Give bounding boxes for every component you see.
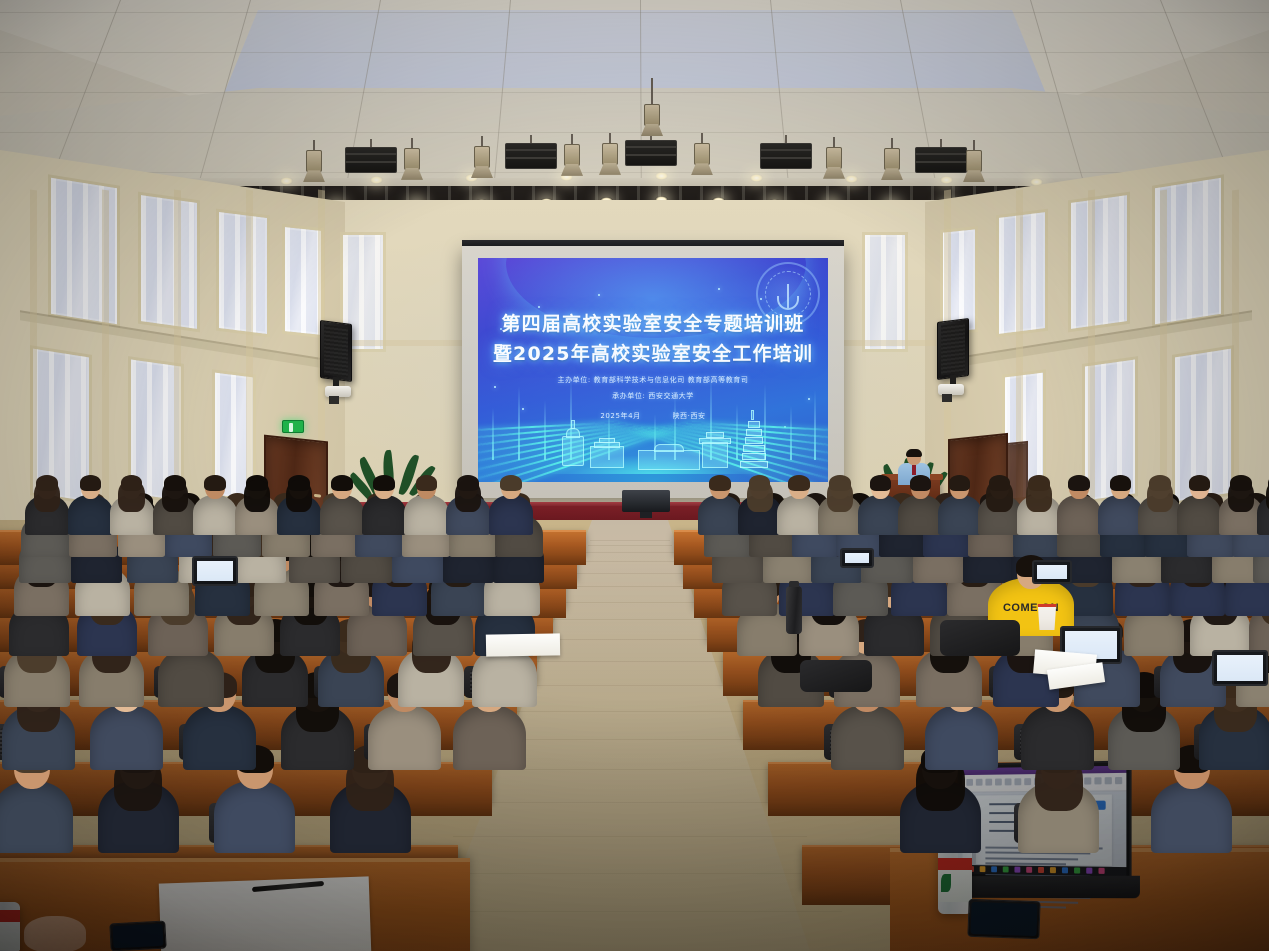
stage-spotlight — [690, 133, 714, 177]
skyline-bell-tower-spire — [571, 420, 575, 429]
ceiling-grid-line — [0, 12, 1269, 13]
audience-hair — [1189, 475, 1211, 490]
audience-member — [320, 476, 364, 539]
laptop-display — [1217, 655, 1263, 681]
stage-spotlight — [560, 134, 584, 178]
taskbar-icon[interactable] — [1098, 868, 1104, 874]
wall-pilaster — [246, 189, 253, 520]
wall-pilaster — [174, 189, 181, 520]
taskbar-icon[interactable] — [980, 866, 986, 872]
backpack — [940, 620, 1020, 656]
laptop-display — [1037, 565, 1067, 579]
audience-hair — [331, 475, 353, 490]
audience-hair — [949, 475, 971, 490]
stage-spotlight — [880, 138, 904, 182]
audience-hair — [910, 475, 932, 490]
audience-long-hair — [34, 480, 60, 511]
audience-long-hair — [827, 480, 853, 511]
wall-pilaster — [1088, 189, 1095, 520]
audience-torso — [858, 495, 902, 534]
stage-floodlight — [625, 132, 677, 176]
audience-hair — [870, 475, 892, 490]
ceiling-downlight — [845, 175, 858, 183]
floor-plank — [418, 911, 841, 912]
audience-long-hair — [118, 480, 144, 511]
ribbon-icon — [1005, 778, 1012, 785]
ribbon-icon — [1115, 777, 1122, 784]
audience-hair — [204, 475, 226, 490]
audience-hair — [416, 475, 438, 490]
audience-long-hair — [1026, 480, 1052, 511]
audience-torso — [1098, 495, 1142, 534]
stage-spotlight — [470, 136, 494, 180]
audience-member — [1057, 476, 1101, 539]
audience-long-hair — [286, 480, 312, 511]
slide-sparkle — [598, 294, 600, 296]
audience-hair — [80, 475, 102, 490]
floor-plank — [580, 561, 680, 562]
stage-floodlight — [915, 139, 967, 183]
skyline-pavilion-roof — [699, 438, 731, 444]
exit-sign-left[interactable] — [282, 420, 304, 433]
laptop-keyboard-deck[interactable] — [951, 876, 1140, 899]
taskbar-icon[interactable] — [1003, 866, 1009, 872]
slide-title-line-2: 暨2025年高校实验室安全工作培训 — [478, 339, 828, 366]
taskbar-icon[interactable] — [1086, 868, 1092, 874]
floor-plank — [575, 573, 685, 574]
window — [1068, 192, 1130, 333]
wall-speaker-right — [937, 318, 969, 380]
audience-long-hair — [162, 480, 188, 511]
handout-paper — [486, 633, 560, 656]
audience-member — [193, 476, 237, 539]
skyline-drum-tower-roof2 — [599, 438, 615, 443]
audience-member — [938, 476, 982, 539]
stage-floodlight — [760, 135, 812, 179]
audience-torso — [368, 705, 441, 770]
laptop-screen — [192, 556, 238, 586]
slide-sparkle — [538, 306, 540, 308]
audience-torso — [1057, 495, 1101, 534]
audience-torso — [362, 495, 406, 534]
skyline-pagoda-level — [742, 453, 767, 460]
floor-plank — [588, 545, 673, 546]
floor-plank — [569, 586, 692, 587]
taskbar-icon[interactable] — [1074, 867, 1080, 873]
laptop-display — [845, 553, 869, 563]
hand-foreground — [24, 916, 86, 951]
wall-pilaster — [1160, 189, 1167, 520]
ceiling-grid-line — [0, 92, 1269, 93]
slide-sparkle — [760, 298, 762, 300]
taskbar-icon[interactable] — [1050, 867, 1056, 873]
audience-member — [235, 476, 279, 539]
laptop[interactable] — [1212, 650, 1268, 686]
audience-torso — [777, 495, 821, 534]
window — [862, 232, 908, 352]
floor-plank — [553, 619, 706, 620]
taskbar-icon[interactable] — [991, 866, 997, 872]
coffee-cup — [1036, 604, 1058, 630]
laptop-screen — [840, 548, 874, 568]
audience-member — [489, 476, 533, 539]
skyline-pagoda-level — [740, 461, 768, 468]
audience-long-hair — [1228, 480, 1254, 511]
stage-floodlight — [505, 135, 557, 179]
audience-member — [777, 476, 821, 539]
floor-plank — [469, 802, 791, 803]
audience-torso — [404, 495, 448, 534]
audience-member — [446, 476, 490, 539]
audience-member — [362, 476, 406, 539]
window — [138, 192, 200, 333]
skyline-pavilion-roof2 — [706, 432, 724, 438]
floor-plank — [561, 602, 698, 603]
stage-spotlight — [400, 138, 424, 182]
audience-torso — [320, 495, 364, 534]
skyline-central-building — [638, 450, 700, 470]
audience-hair — [500, 475, 522, 490]
smartphone[interactable] — [109, 921, 166, 951]
audience-torso — [90, 705, 163, 770]
audience-hair — [709, 475, 731, 490]
tumbler-bottle — [786, 586, 802, 634]
laptop-screen — [1212, 650, 1268, 686]
slide-location: 陕西·西安 — [672, 411, 705, 421]
taskbar-icon[interactable] — [1026, 867, 1032, 873]
audience-member — [1098, 476, 1142, 539]
lecture-hall-photo: 第四届高校实验室安全专题培训班 暨2025年高校实验室安全工作培训 主办单位: … — [0, 0, 1269, 951]
floor-plank — [498, 739, 762, 740]
shirt-text: COME ON — [988, 602, 1074, 614]
wall-pilaster — [1232, 189, 1239, 520]
projection-screen: 第四届高校实验室安全专题培训班 暨2025年高校实验室安全工作培训 主办单位: … — [478, 258, 828, 482]
skyline-pavilion — [702, 442, 728, 468]
skyline-pagoda-level — [745, 437, 763, 444]
stage-monitor — [622, 490, 670, 512]
audience-member — [1177, 476, 1221, 539]
floor-plank — [584, 552, 675, 553]
audience-torso — [214, 781, 295, 853]
stage-spotlight — [302, 140, 326, 184]
water-bottle-foreground — [0, 902, 20, 951]
audience-torso — [698, 495, 742, 534]
wall-pilaster — [30, 189, 37, 520]
audience-torso — [68, 495, 112, 534]
audience-torso — [938, 495, 982, 534]
audience-member — [110, 476, 154, 539]
ceiling-downlight — [1030, 178, 1043, 186]
audience-member — [898, 476, 942, 539]
audience-member — [1138, 476, 1182, 539]
audience-member — [68, 476, 112, 539]
audience-member — [404, 476, 448, 539]
skyline-drum-tower — [590, 446, 624, 468]
audience-torso — [183, 705, 256, 770]
audience-long-hair — [747, 480, 773, 511]
audience-hair — [373, 475, 395, 490]
audience-member — [698, 476, 742, 539]
laptop[interactable] — [840, 548, 874, 568]
laptop-display — [197, 561, 233, 581]
skyline-bell-tower-top — [566, 428, 580, 438]
audience-torso — [0, 781, 73, 853]
audience-torso — [1021, 705, 1094, 770]
taskbar-icon[interactable] — [1062, 867, 1068, 873]
slide-host-line: 承办单位: 西安交通大学 — [478, 391, 828, 401]
audience-torso — [925, 705, 998, 770]
audience-member — [277, 476, 321, 539]
floor-plank — [511, 711, 749, 712]
wall-speaker-left — [320, 320, 352, 382]
audience-hair — [1068, 475, 1090, 490]
audience-long-hair — [244, 480, 270, 511]
skyline-pagoda-level — [743, 445, 765, 452]
slide-sparkle — [718, 288, 720, 290]
laptop-screen — [1032, 560, 1072, 584]
audience-member — [25, 476, 69, 539]
hanging-spotlight — [640, 78, 664, 122]
wall-pilaster — [102, 189, 109, 520]
floor-plank — [534, 661, 726, 662]
floor-plank — [436, 873, 824, 874]
floor-plank — [590, 540, 670, 541]
laptop[interactable] — [1032, 560, 1072, 584]
ribbon-icon — [995, 779, 1002, 786]
slide-organizer-line: 主办单位: 教育部科学技术与信息化司 教育部高等教育司 — [478, 375, 828, 385]
audience-long-hair — [986, 480, 1012, 511]
audience-long-hair — [455, 480, 481, 511]
backpack — [800, 660, 872, 692]
floor-plank — [544, 639, 716, 640]
stage-spotlight — [962, 140, 986, 184]
laptop[interactable] — [192, 556, 238, 586]
slide-sparkle — [522, 408, 524, 410]
security-camera-right — [938, 384, 964, 395]
security-camera-left — [325, 386, 351, 397]
audience-torso — [193, 495, 237, 534]
skyline-central-roof — [654, 444, 684, 452]
audience-hair — [788, 475, 810, 490]
audience-hair — [1110, 475, 1132, 490]
floor-plank — [523, 685, 737, 686]
audience-torso — [1177, 495, 1221, 534]
slide-title-line-1: 第四届高校实验室安全专题培训班 — [478, 309, 828, 336]
ceiling-downlight — [280, 177, 293, 185]
stage-spotlight — [822, 137, 846, 181]
slide-date-location: 2025年4月 陕西·西安 — [478, 411, 828, 421]
window — [48, 174, 120, 327]
taskbar-icon[interactable] — [1038, 867, 1044, 873]
ceiling-grid-line — [0, 52, 1269, 53]
slide-sparkle — [494, 386, 496, 388]
audience-member — [818, 476, 862, 539]
audience-torso — [831, 705, 904, 770]
audience-member — [858, 476, 902, 539]
skyline-pagoda-level — [748, 421, 760, 428]
taskbar-icon[interactable] — [1014, 867, 1020, 873]
smartphone-right[interactable] — [967, 899, 1040, 939]
audience-member — [1017, 476, 1061, 539]
audience-torso — [1151, 781, 1232, 853]
audience-torso — [489, 495, 533, 534]
audience-torso — [453, 705, 526, 770]
skyline-bell-tower — [562, 436, 584, 466]
floor-plank — [484, 769, 776, 770]
audience-member — [738, 476, 782, 539]
audience-member — [1257, 476, 1269, 539]
audience-long-hair — [1147, 480, 1173, 511]
window — [216, 209, 270, 338]
ribbon-icon — [1105, 777, 1112, 784]
floor-plank — [453, 836, 807, 837]
stage-spotlight — [598, 133, 622, 177]
audience-member — [978, 476, 1022, 539]
ribbon-icon — [985, 779, 992, 786]
slide-date: 2025年4月 — [600, 411, 640, 421]
skyline-pagoda-level — [746, 429, 761, 436]
audience-torso — [898, 495, 942, 534]
audience-member — [153, 476, 197, 539]
stage-floodlight — [345, 139, 397, 183]
